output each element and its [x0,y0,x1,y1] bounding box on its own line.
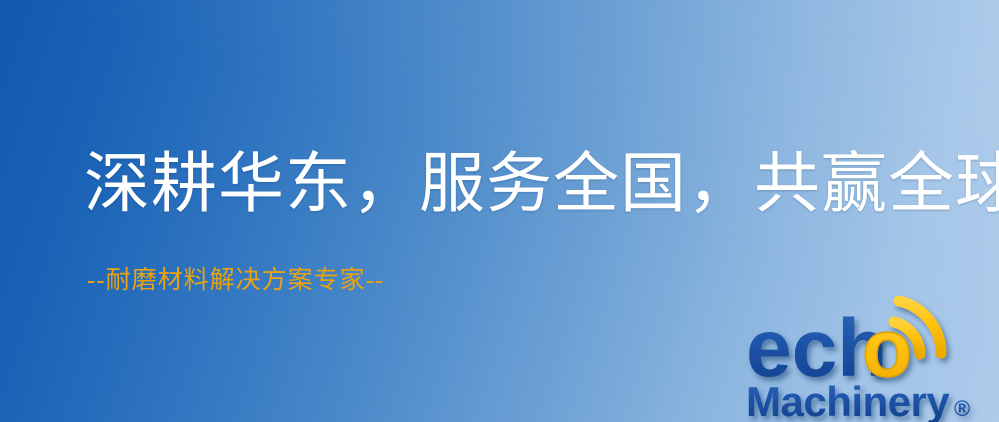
logo-artwork: ech o Machinery ® [744,296,996,422]
promo-banner: 深耕华东，服务全国，共赢全球 --耐磨材料解决方案专家-- [0,0,999,422]
banner-headline: 深耕华东，服务全国，共赢全球 [84,152,999,218]
logo-machinery-text: Machinery [746,378,950,422]
logo-wordmark-machinery: Machinery ® [746,378,970,422]
registered-trademark-icon: ® [954,396,970,421]
echo-machinery-logo[interactable]: ech o Machinery ® [744,296,996,422]
banner-subtitle: --耐磨材料解决方案专家-- [87,268,384,293]
